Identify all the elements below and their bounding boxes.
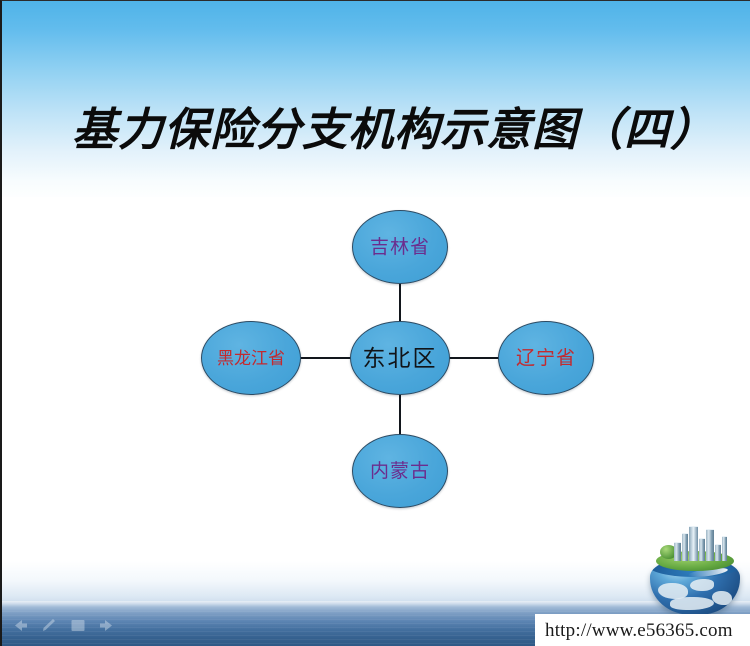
skyline-icon [674,525,728,561]
eco-city-globe-logo [646,525,744,617]
connector-center-left [299,357,352,359]
node-northeast-region[interactable]: 东北区 [350,321,450,395]
node-jilin-label: 吉林省 [370,238,430,257]
back-icon[interactable] [10,617,30,634]
org-chart-diagram: 吉林省 黑龙江省 东北区 辽宁省 内蒙古 [2,1,750,646]
node-liaoning-label: 辽宁省 [516,349,576,368]
forward-icon[interactable] [97,617,117,634]
globe-landmass [670,597,714,610]
watermark-url-box: http://www.e56365.com [535,614,750,646]
connector-center-bottom [399,395,401,435]
page-icon[interactable] [68,617,88,634]
node-liaoning[interactable]: 辽宁省 [498,321,594,395]
watermark-url-text: http://www.e56365.com [545,620,733,642]
slideshow-nav-controls[interactable] [10,617,117,634]
globe-landmass [690,579,714,591]
node-heilongjiang-label: 黑龙江省 [217,350,285,367]
node-inner-mongolia[interactable]: 内蒙古 [352,434,448,508]
connector-center-right [448,357,499,359]
pen-icon[interactable] [39,617,59,634]
node-jilin[interactable]: 吉林省 [352,210,448,284]
node-northeast-region-label: 东北区 [363,347,438,370]
globe-landmass [712,591,732,605]
presentation-slide: 基力保险分支机构示意图（四） 吉林省 黑龙江省 东北区 辽宁省 内蒙古 [0,0,750,646]
connector-center-top [399,283,401,321]
node-inner-mongolia-label: 内蒙古 [370,462,430,481]
node-heilongjiang[interactable]: 黑龙江省 [201,321,301,395]
